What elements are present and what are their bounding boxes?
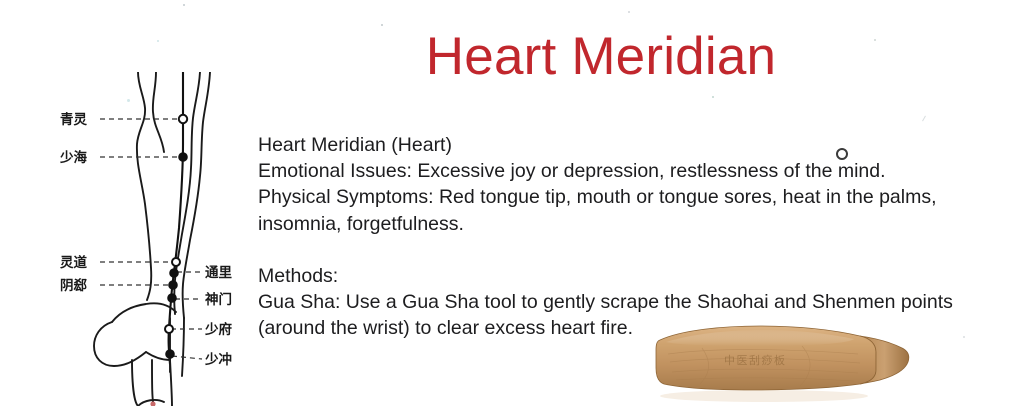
label-shaochong: 少冲 (204, 351, 232, 368)
speck-5 (712, 96, 714, 98)
acupoint-shaohai (179, 153, 187, 161)
acupoint-markers (150, 115, 187, 406)
body-line-physical-symptoms: Physical Symptoms: Red tongue tip, mouth… (258, 184, 1020, 210)
meridian-illustration: 青灵 少海 灵道 阴郄 通里 神门 少府 少冲 (52, 72, 272, 406)
gua-sha-engraving: 中医刮痧板 (724, 353, 787, 367)
acupoint-shaofu (165, 325, 173, 333)
label-yinxi: 阴郄 (60, 277, 87, 294)
gua-sha-tool-image: 中医刮痧板 (652, 318, 920, 406)
acupoint-yinxi (169, 281, 177, 289)
speck-3 (628, 11, 630, 13)
acupoint-qingling (179, 115, 187, 123)
gua-sha-board: 中医刮痧板 (652, 318, 920, 406)
label-qingling: 青灵 (60, 111, 87, 128)
label-shaohai: 少海 (59, 149, 87, 166)
body-line-methods: Methods: (258, 263, 1020, 289)
speck-1 (183, 4, 185, 6)
acupoint-shaochong (166, 350, 174, 358)
slide-canvas: Heart Meridian (0, 0, 1024, 406)
label-shaofu: 少府 (204, 321, 232, 338)
acupoint-shenmen (168, 294, 176, 302)
label-lingdao: 灵道 (60, 254, 87, 271)
acupoint-lingdao (172, 258, 180, 266)
body-line-heart-meridian: Heart Meridian (Heart) (258, 132, 1020, 158)
fingertip-point (150, 401, 155, 406)
body-line-gua-sha: Gua Sha: Use a Gua Sha tool to gently sc… (258, 289, 1020, 315)
body-text-block: Heart Meridian (Heart) Emotional Issues:… (258, 132, 1020, 342)
paragraph-spacer (258, 237, 1020, 263)
label-tongli: 通里 (205, 265, 232, 281)
gua-sha-reflection (660, 390, 868, 402)
body-line-physical-symptoms-cont: insomnia, forgetfulness. (258, 211, 1020, 237)
label-shenmen: 神门 (205, 291, 232, 308)
speck-6 (922, 116, 926, 122)
body-line-emotional-issues: Emotional Issues: Excessive joy or depre… (258, 158, 1020, 184)
acupoint-tongli (170, 269, 178, 277)
heart-meridian-diagram: 青灵 少海 灵道 阴郄 通里 神门 少府 少冲 (52, 72, 272, 406)
